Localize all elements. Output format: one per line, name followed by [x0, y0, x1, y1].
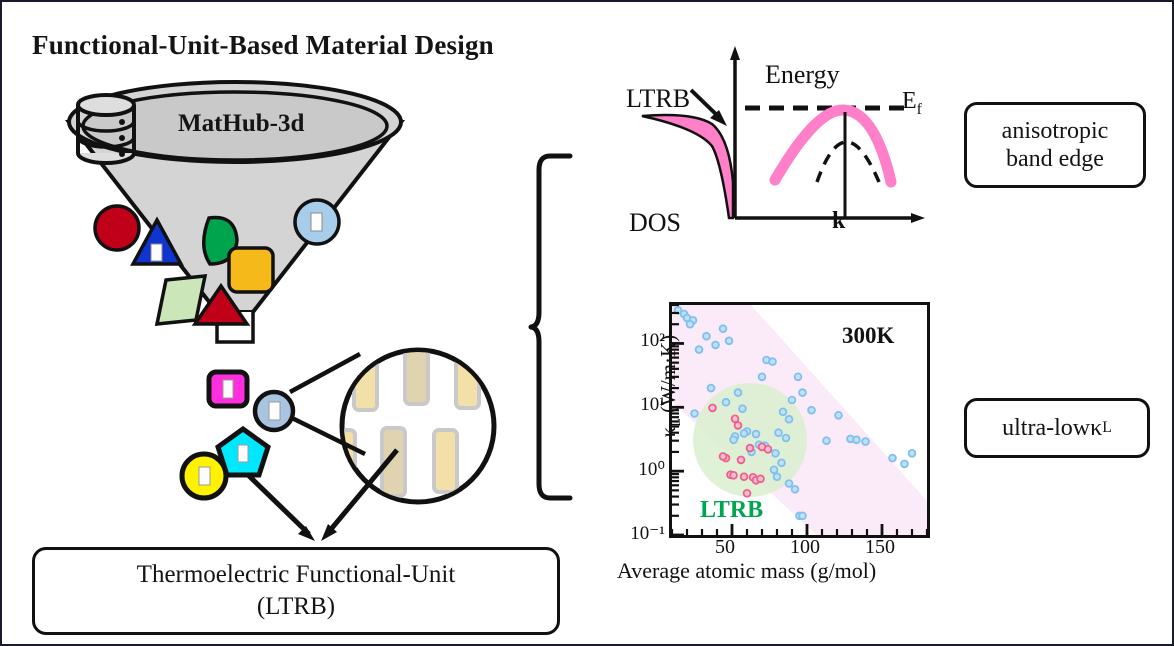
- callout-thermoelectric-functional-unit[interactable]: Thermoelectric Functional-Unit (LTRB): [32, 547, 560, 635]
- band-energy-label: Energy: [765, 60, 840, 90]
- callout-ultra-low-kappa[interactable]: ultra-low κL: [964, 398, 1150, 458]
- data-point: [691, 410, 698, 417]
- data-point: [735, 422, 742, 429]
- data-point: [780, 408, 787, 415]
- callout-aniso-line2: band edge: [1002, 145, 1109, 173]
- data-point: [687, 321, 694, 328]
- data-point: [744, 490, 751, 497]
- data-point: [741, 473, 748, 480]
- data-point: [720, 453, 727, 460]
- band-k-label: k: [832, 208, 845, 235]
- band-dos-label: DOS: [629, 208, 681, 238]
- y-tick-label: 10⁰: [627, 458, 665, 481]
- data-point: [709, 405, 716, 412]
- data-point: [730, 472, 737, 479]
- bottom-box-line1: Thermoelectric Functional-Unit: [137, 559, 456, 592]
- temperature-annotation: 300K: [842, 323, 894, 349]
- data-point: [712, 342, 719, 349]
- data-point: [723, 399, 730, 406]
- kappa-scatter-chart: 300K LTRB κL (W/m·K) Average atomic mass…: [669, 302, 930, 538]
- funnel-shapes-group: [57, 80, 407, 370]
- data-point: [799, 389, 806, 396]
- data-point: [775, 429, 782, 436]
- data-point: [757, 475, 764, 482]
- data-point: [772, 450, 779, 457]
- x-tick-label: 50: [715, 536, 735, 559]
- data-point: [753, 431, 760, 438]
- callout-anisotropic-band-edge[interactable]: anisotropic band edge: [964, 102, 1146, 188]
- page-title: Functional-Unit-Based Material Design: [32, 30, 494, 61]
- y-tick-label: 10²: [627, 330, 665, 352]
- kappa-symbol: κ: [1090, 414, 1102, 442]
- data-point: [759, 373, 766, 380]
- data-point: [703, 333, 710, 340]
- data-point: [862, 438, 869, 445]
- data-point: [741, 430, 748, 437]
- data-point: [774, 473, 781, 480]
- data-point: [789, 397, 796, 404]
- data-point: [799, 512, 806, 519]
- data-point: [738, 457, 745, 464]
- callout-ultra-prefix: ultra-low: [1002, 414, 1090, 442]
- bottom-box-line2: (LTRB): [137, 591, 456, 624]
- data-point: [823, 437, 830, 444]
- figure-canvas: Functional-Unit-Based Material Design: [0, 0, 1174, 646]
- data-point: [720, 325, 727, 332]
- data-point: [783, 435, 790, 442]
- data-point: [708, 385, 715, 392]
- data-point: [786, 416, 793, 423]
- band-ltrb-label: LTRB: [626, 84, 690, 114]
- data-point: [726, 337, 733, 344]
- data-point: [771, 466, 778, 473]
- data-point: [765, 446, 772, 453]
- kappa-subscript: L: [1102, 419, 1112, 438]
- shape-parallelogram-lightgreen: [157, 276, 205, 324]
- data-point: [889, 455, 896, 462]
- grouping-brace: [530, 152, 576, 502]
- y-tick-label: 10⁻¹: [627, 522, 665, 545]
- isotropic-band-dashed: [817, 142, 879, 182]
- shape-circle-lightblue: [295, 200, 339, 244]
- data-point: [735, 389, 742, 396]
- data-point: [792, 486, 799, 493]
- x-tick-label: 150: [865, 536, 895, 559]
- shape-circle-dark-red: [95, 206, 139, 250]
- data-point: [730, 436, 737, 443]
- data-point: [901, 461, 908, 468]
- dos-peak-shape: [642, 115, 733, 218]
- data-point: [835, 412, 842, 419]
- x-axis-label: Average atomic mass (g/mol): [617, 558, 876, 584]
- data-point: [853, 436, 860, 443]
- data-point: [739, 405, 746, 412]
- x-tick-label: 100: [790, 536, 820, 559]
- data-point: [786, 480, 793, 487]
- anisotropic-band-curve: [775, 110, 891, 182]
- connector-lines: [182, 342, 542, 567]
- data-point: [747, 445, 754, 452]
- ltrb-region-label: LTRB: [700, 497, 763, 524]
- data-point: [808, 407, 815, 414]
- plot-frame: 300K LTRB: [669, 302, 930, 538]
- y-tick-label: 10¹: [627, 394, 665, 416]
- callout-aniso-line1: anisotropic: [1002, 117, 1109, 145]
- data-point: [795, 373, 802, 380]
- data-point: [778, 459, 785, 466]
- shape-square-orange: [229, 248, 273, 292]
- data-point: [696, 346, 703, 353]
- fermi-level-label: Ef: [902, 88, 922, 119]
- data-point: [769, 358, 776, 365]
- data-point: [909, 450, 916, 457]
